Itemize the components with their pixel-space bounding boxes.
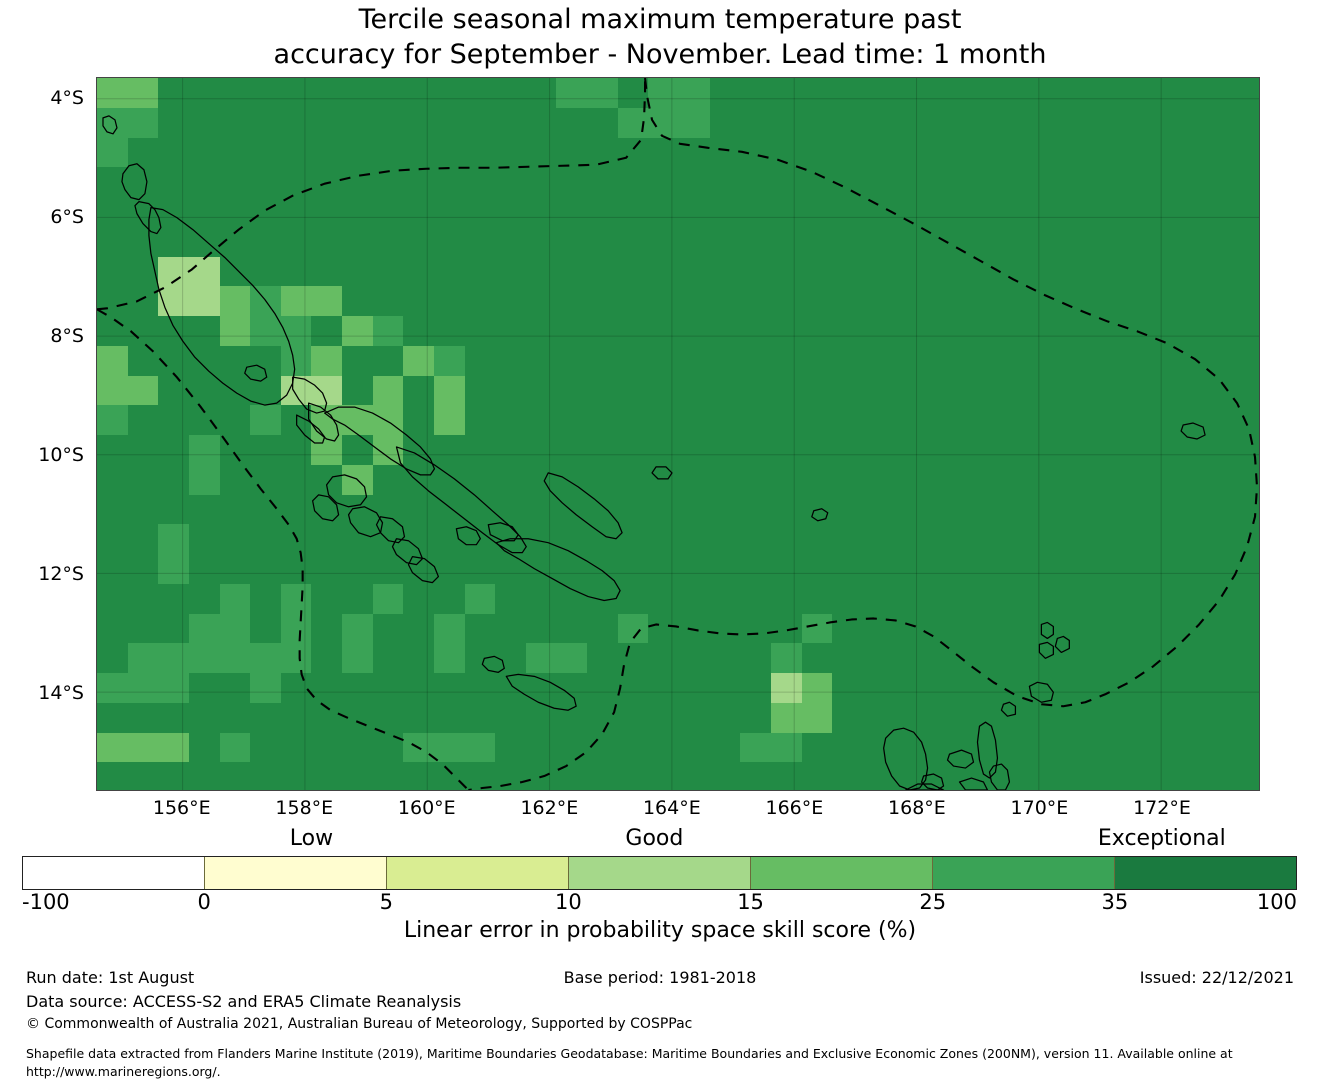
page-title: Tercile seasonal maximum temperature pas… (0, 2, 1320, 72)
longitude-tick-label-5: 166°E (734, 797, 854, 819)
colorbar-tick-labels: -1000510152535100 (0, 890, 1320, 916)
longitude-tick-label-0: 156°E (122, 797, 242, 819)
latitude-tick-label-2: 8°S (0, 325, 84, 347)
latitude-tick-label-0: 4°S (0, 87, 84, 109)
colorbar-tick-4: 15 (737, 890, 764, 914)
longitude-tick-label-4: 164°E (612, 797, 732, 819)
longitude-tick-label-2: 160°E (367, 797, 487, 819)
latitude-tick-label-4: 12°S (0, 563, 84, 585)
footer: Run date: 1st August Base period: 1981-2… (0, 968, 1320, 1080)
map-vector-overlays (97, 78, 1259, 790)
longitude-tick-label-8: 172°E (1102, 797, 1222, 819)
longitude-tick-label-1: 158°E (244, 797, 364, 819)
colorbar-tick-1: 0 (197, 890, 210, 914)
issued-date: Issued: 22/12/2021 (1140, 968, 1294, 987)
base-period: Base period: 1981-2018 (0, 968, 1320, 987)
colorbar-segment-5 (933, 857, 1115, 889)
data-source: Data source: ACCESS-S2 and ERA5 Climate … (26, 992, 461, 1011)
colorbar-tick-6: 35 (1101, 890, 1128, 914)
colorbar-category-labels: LowGoodExceptional (0, 826, 1320, 854)
colorbar (22, 856, 1297, 890)
longitude-tick-label-3: 162°E (489, 797, 609, 819)
colorbar-category-good: Good (625, 826, 683, 851)
colorbar-tick-7: 100 (1257, 890, 1297, 914)
shapefile-attribution-line1: Shapefile data extracted from Flanders M… (26, 1046, 1233, 1061)
eez-boundary (97, 78, 1257, 790)
colorbar-tick-5: 25 (919, 890, 946, 914)
shapefile-attribution-line2: http://www.marineregions.org/. (26, 1064, 221, 1079)
colorbar-segment-1 (205, 857, 387, 889)
colorbar-segment-2 (387, 857, 569, 889)
longitude-tick-label-6: 168°E (857, 797, 977, 819)
latitude-tick-label-5: 14°S (0, 682, 84, 704)
colorbar-segment-0 (23, 857, 205, 889)
colorbar-segment-4 (751, 857, 933, 889)
coastlines (103, 116, 1205, 790)
latitude-tick-label-3: 10°S (0, 444, 84, 466)
colorbar-axis-label: Linear error in probability space skill … (0, 918, 1320, 943)
colorbar-tick-3: 10 (555, 890, 582, 914)
copyright-notice: © Commonwealth of Australia 2021, Austra… (26, 1016, 692, 1032)
colorbar-category-low: Low (290, 826, 333, 851)
latitude-tick-label-1: 6°S (0, 206, 84, 228)
colorbar-segment-6 (1115, 857, 1296, 889)
colorbar-tick-0: -100 (22, 890, 70, 914)
colorbar-segment-3 (569, 857, 751, 889)
colorbar-category-exceptional: Exceptional (1098, 826, 1226, 851)
colorbar-tick-2: 5 (380, 890, 393, 914)
longitude-tick-label-7: 170°E (979, 797, 1099, 819)
map-panel (96, 77, 1260, 791)
